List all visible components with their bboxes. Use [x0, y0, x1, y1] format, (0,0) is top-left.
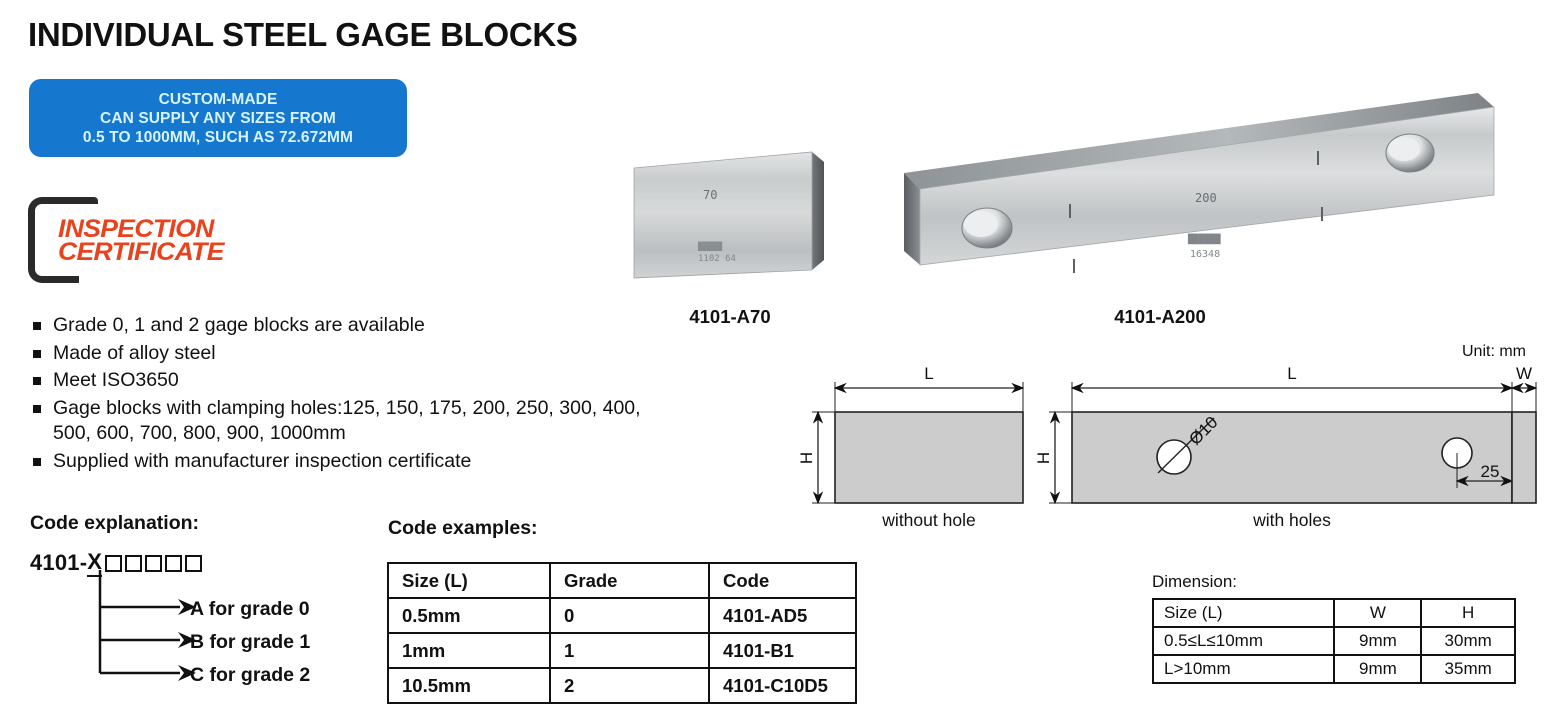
cell-size: 10.5mm [388, 668, 550, 703]
column-header-code: Code [709, 563, 856, 598]
table-row: 10.5mm 2 4101-C10D5 [388, 668, 856, 703]
table-header-row: Size (L) Grade Code [388, 563, 856, 598]
svg-text:without hole: without hole [881, 510, 975, 530]
product-caption-2: 4101-A200 [1000, 306, 1320, 328]
column-header-size: Size (L) [388, 563, 550, 598]
product-photo-4101-a70: 70 █████ 1102 64 [620, 140, 840, 300]
cell-code: 4101-B1 [709, 633, 856, 668]
list-item: Supplied with manufacturer inspection ce… [30, 449, 650, 475]
bullet-square-icon [33, 405, 41, 413]
list-item: Made of alloy steel [30, 341, 650, 367]
svg-text:W: W [1516, 364, 1532, 383]
cell-w: 9mm [1334, 627, 1421, 655]
unit-label: Unit: mm [1462, 343, 1526, 361]
svg-text:██████: ██████ [1187, 233, 1221, 245]
bullet-square-icon [33, 350, 41, 358]
cell-h: 30mm [1421, 627, 1515, 655]
cell-grade: 1 [550, 633, 709, 668]
svg-text:H: H [800, 452, 816, 464]
dimension-heading: Dimension: [1152, 572, 1237, 592]
product-photo-4101-a200: 200 ██████ 16348 [890, 85, 1510, 300]
table-row: 1mm 1 4101-B1 [388, 633, 856, 668]
cell-size: 0.5mm [388, 598, 550, 633]
code-empty-box [165, 555, 182, 572]
code-examples-table: Size (L) Grade Code 0.5mm 0 4101-AD5 1mm… [387, 562, 857, 704]
custom-made-badge: CUSTOM-MADE CAN SUPPLY ANY SIZES FROM 0.… [30, 80, 406, 156]
code-empty-box [125, 555, 142, 572]
svg-text:H: H [1034, 452, 1053, 464]
cell-grade: 2 [550, 668, 709, 703]
feature-list: Grade 0, 1 and 2 gage blocks are availab… [30, 313, 650, 476]
table-row: 0.5≤L≤10mm 9mm 30mm [1153, 627, 1515, 655]
list-item: Meet ISO3650 [30, 368, 650, 394]
svg-text:█████: █████ [697, 241, 722, 251]
cell-h: 35mm [1421, 655, 1515, 683]
code-empty-box [145, 555, 162, 572]
badge-line-2: CAN SUPPLY ANY SIZES FROM [100, 109, 336, 128]
cell-grade: 0 [550, 598, 709, 633]
feature-text: Made of alloy steel [53, 342, 216, 364]
column-header-w: W [1334, 599, 1421, 627]
table-header-row: Size (L) W H [1153, 599, 1515, 627]
column-header-grade: Grade [550, 563, 709, 598]
cell-w: 9mm [1334, 655, 1421, 683]
bullet-square-icon [33, 377, 41, 385]
column-header-h: H [1421, 599, 1515, 627]
list-item: Gage blocks with clamping holes:125, 150… [30, 396, 650, 447]
inspection-certificate-logo: INSPECTION CERTIFICATE [28, 195, 248, 275]
badge-line-1: CUSTOM-MADE [159, 90, 278, 109]
branch-label-c: C for grade 2 [190, 664, 310, 687]
table-row: 0.5mm 0 4101-AD5 [388, 598, 856, 633]
svg-text:L: L [924, 364, 933, 383]
bullet-square-icon [33, 322, 41, 330]
svg-text:200: 200 [1195, 191, 1217, 205]
table-row: L>10mm 9mm 35mm [1153, 655, 1515, 683]
branch-label-b: B for grade 1 [190, 631, 310, 654]
feature-text: Supplied with manufacturer inspection ce… [53, 450, 471, 472]
cell-code: 4101-AD5 [709, 598, 856, 633]
cell-size: 0.5≤L≤10mm [1153, 627, 1334, 655]
list-item: Grade 0, 1 and 2 gage blocks are availab… [30, 313, 650, 339]
badge-line-3: 0.5 TO 1000MM, SUCH AS 72.672MM [83, 128, 353, 147]
technical-drawings: L H without hole L H Ø10 25 with holes W [800, 360, 1554, 530]
svg-text:16348: 16348 [1190, 249, 1220, 260]
feature-text: Meet ISO3650 [53, 369, 179, 391]
branch-label-a: A for grade 0 [190, 598, 310, 621]
cell-size: L>10mm [1153, 655, 1334, 683]
feature-text: Grade 0, 1 and 2 gage blocks are availab… [53, 314, 425, 336]
code-empty-box [105, 555, 122, 572]
certificate-logo-line-2: CERTIFICATE [58, 240, 224, 265]
svg-text:70: 70 [703, 188, 717, 202]
cell-size: 1mm [388, 633, 550, 668]
code-examples-heading: Code examples: [388, 517, 538, 540]
svg-text:25: 25 [1481, 462, 1500, 481]
svg-text:L: L [1287, 364, 1296, 383]
code-empty-box [185, 555, 202, 572]
svg-text:1102 64: 1102 64 [698, 254, 736, 264]
feature-text: Gage blocks with clamping holes:125, 150… [53, 397, 641, 445]
column-header-size: Size (L) [1153, 599, 1334, 627]
page-title: INDIVIDUAL STEEL GAGE BLOCKS [28, 16, 578, 54]
product-caption-1: 4101-A70 [620, 306, 840, 328]
dimension-table: Size (L) W H 0.5≤L≤10mm 9mm 30mm L>10mm … [1152, 598, 1516, 684]
cell-code: 4101-C10D5 [709, 668, 856, 703]
bullet-square-icon [33, 458, 41, 466]
code-explanation-heading: Code explanation: [30, 512, 199, 535]
svg-text:with holes: with holes [1252, 510, 1331, 530]
